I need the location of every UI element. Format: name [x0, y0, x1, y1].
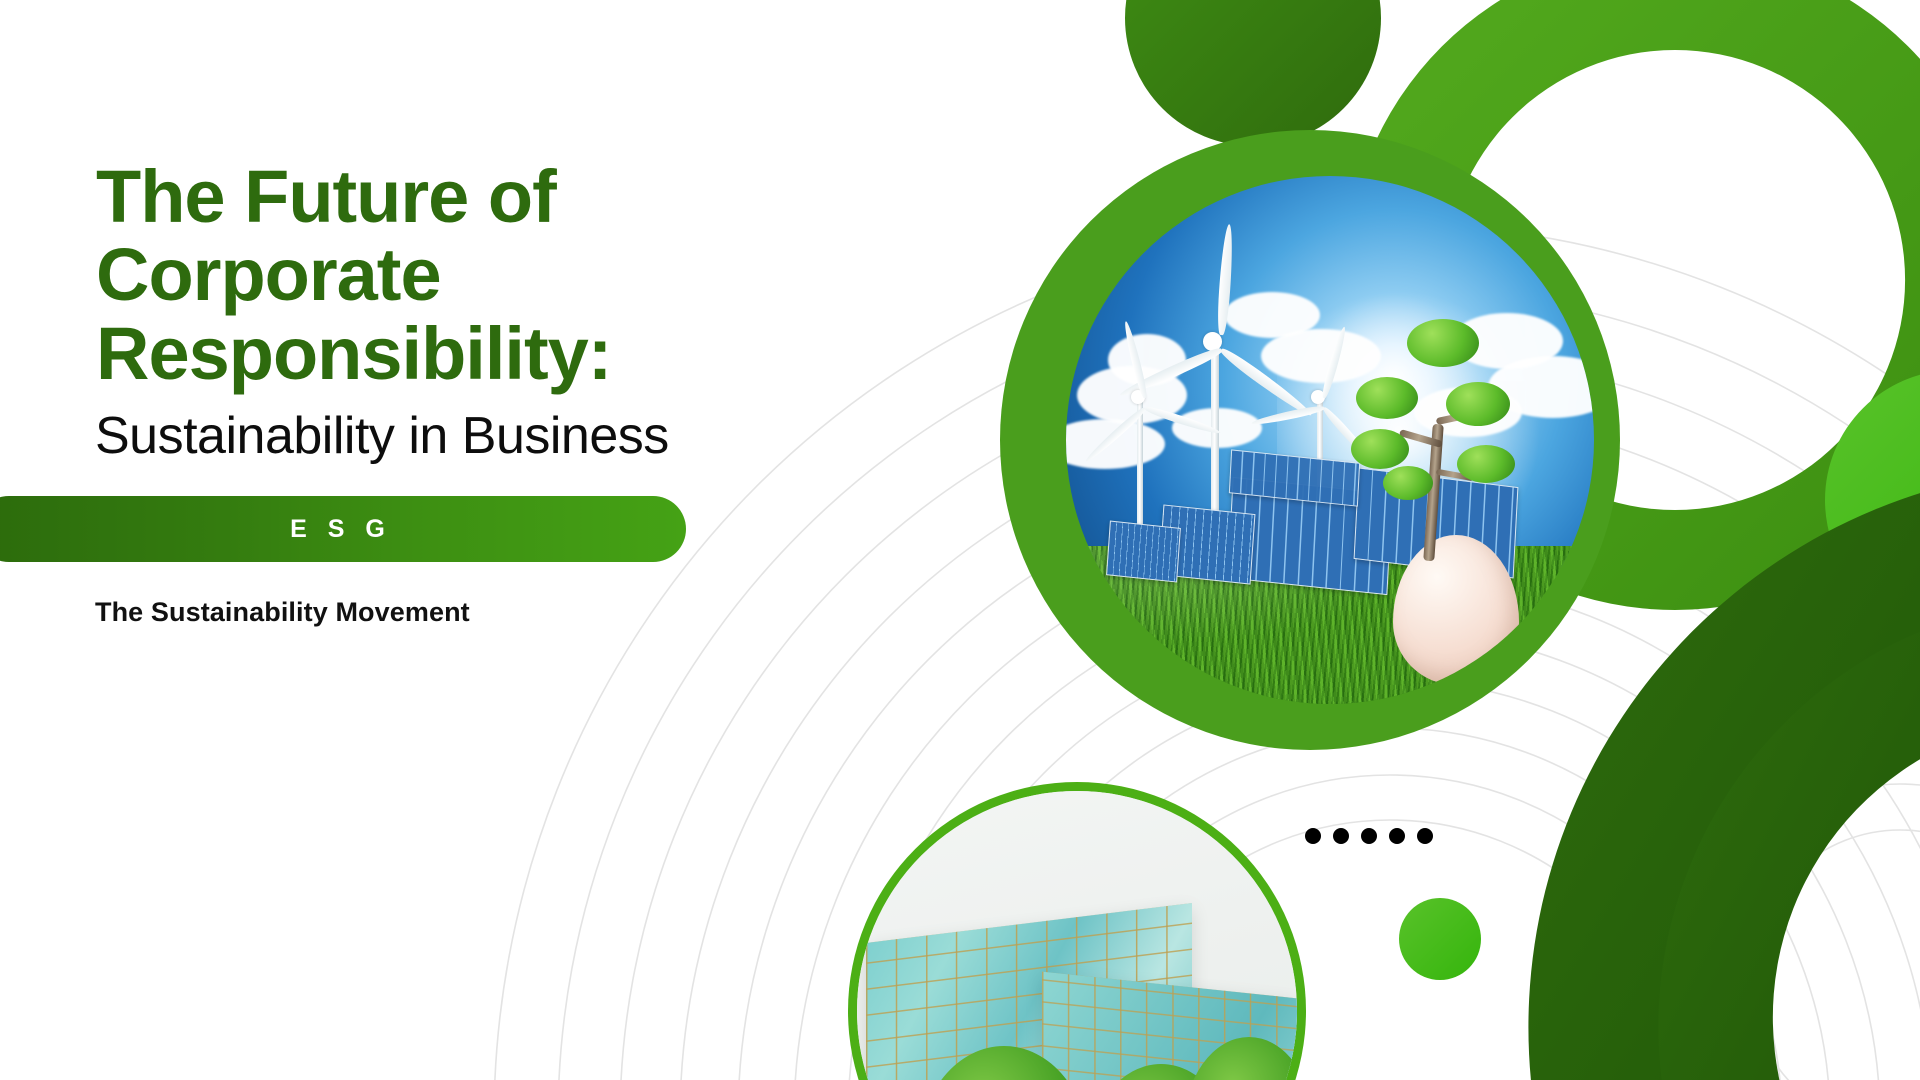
page-title: The Future of Corporate Responsibility:	[96, 158, 796, 393]
renewable-energy-photo	[1066, 176, 1594, 704]
tree-foliage	[1356, 377, 1418, 419]
dot	[1417, 828, 1433, 844]
tagline: The Sustainability Movement	[95, 597, 470, 628]
title-line-2: Corporate	[96, 236, 796, 314]
tree-foliage	[1446, 382, 1510, 426]
cloud	[1261, 329, 1381, 383]
circle-top-small	[1125, 0, 1381, 146]
page-subtitle: Sustainability in Business	[95, 408, 855, 465]
tree-foliage	[1457, 445, 1515, 483]
green-glass-building-photo	[857, 791, 1297, 1080]
esg-badge-label: E S G	[290, 515, 392, 544]
tree-foliage	[1407, 319, 1479, 367]
dot-row-decoration	[1305, 828, 1433, 844]
slide-canvas: The Future of Corporate Responsibility: …	[0, 0, 1920, 1080]
dot	[1389, 828, 1405, 844]
circle-small-bright	[1399, 898, 1481, 980]
title-line-3: Responsibility:	[96, 315, 796, 393]
solar-panel	[1106, 521, 1180, 583]
dot	[1305, 828, 1321, 844]
dot	[1333, 828, 1349, 844]
esg-badge: E S G	[0, 496, 686, 562]
dot	[1361, 828, 1377, 844]
title-line-1: The Future of	[96, 158, 796, 236]
renewable-energy-scene	[1066, 176, 1594, 704]
